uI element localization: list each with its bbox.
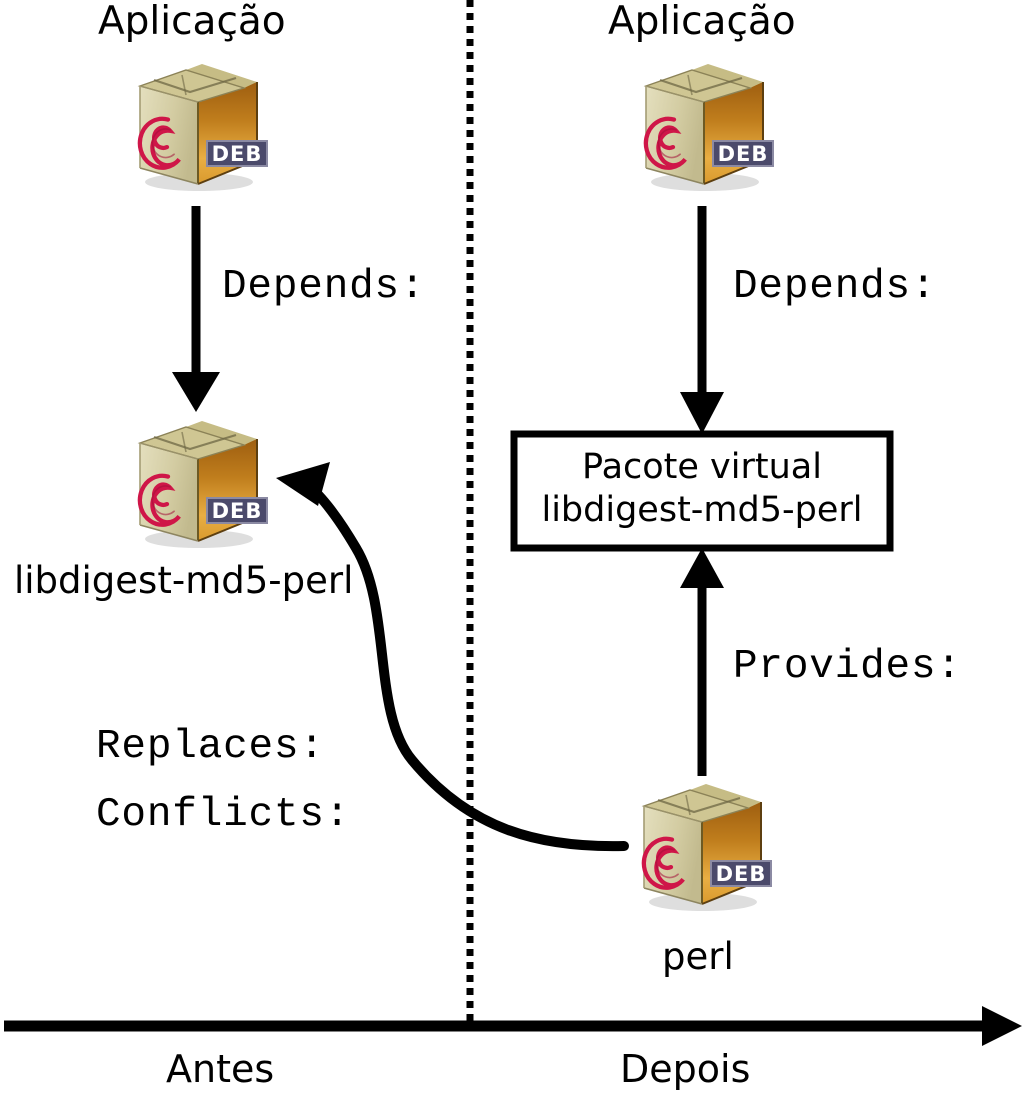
depends-arrow-after <box>680 206 724 434</box>
depends-arrow-before <box>172 206 220 412</box>
conflicts-label: Conflicts: <box>96 794 350 837</box>
perl-label: perl <box>662 938 734 977</box>
perl-package-icon <box>644 784 772 911</box>
virtual-package-line1: Pacote virtual <box>514 448 890 488</box>
replaces-label: Replaces: <box>96 726 325 769</box>
timeline-after-label: Depois <box>620 1050 750 1090</box>
diagram-vector-layer: DEB <box>0 0 1024 1094</box>
provides-label: Provides: <box>733 646 962 689</box>
depends-label-after: Depends: <box>733 266 936 309</box>
libdigest-md5-perl-label: libdigest-md5-perl <box>14 562 353 601</box>
diagram-canvas: DEB <box>0 0 1024 1094</box>
provides-arrow <box>680 548 724 776</box>
timeline-axis <box>4 1006 1022 1046</box>
app-package-icon-before <box>140 64 268 191</box>
app-title-before: Aplicação <box>98 2 286 43</box>
virtual-package-line2: libdigest-md5-perl <box>514 491 890 531</box>
libdigest-md5-perl-package-icon <box>140 421 268 548</box>
app-title-after: Aplicação <box>608 2 796 43</box>
app-package-icon-after <box>646 64 774 191</box>
depends-label-before: Depends: <box>222 266 425 309</box>
timeline-before-label: Antes <box>166 1050 274 1090</box>
